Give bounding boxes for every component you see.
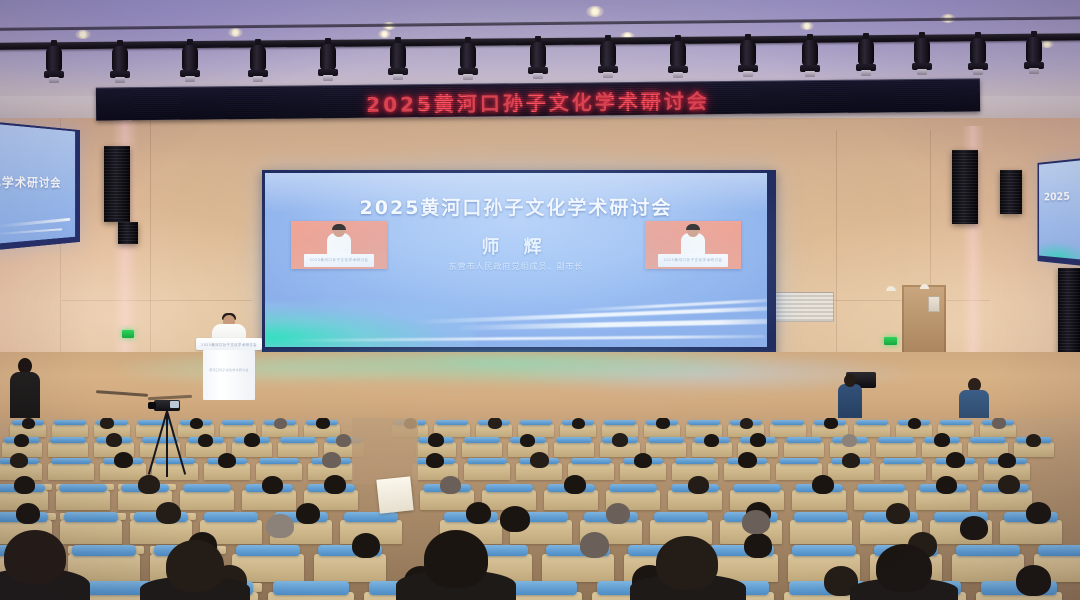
stage-light [1024, 31, 1044, 75]
attendee-head [742, 510, 770, 534]
stage-light [598, 35, 618, 79]
wall-sconce [920, 284, 929, 289]
side-screen-left-text: 文化学术研讨会 [0, 173, 75, 192]
stage-light [248, 39, 268, 83]
wall-vent [774, 292, 834, 322]
stage-light [856, 33, 876, 77]
center-aisle [352, 418, 418, 484]
stage-light [912, 32, 932, 76]
stage-light [528, 36, 548, 80]
exit-sign-left [122, 330, 134, 338]
auditorium-scene: 2025黄河口孙子文化学术研讨会 文化学术研讨会 2025 2025黄河口孙子文… [0, 0, 1080, 600]
screen-pip-right: 2025黄河口孙子文化学术研讨会 [645, 221, 741, 269]
wall-sconce [886, 286, 896, 291]
attendee-foreground-head [876, 544, 932, 592]
ceiling-downlight [586, 6, 604, 17]
line-array-speaker-right-lower [1000, 170, 1022, 214]
attendee-head [266, 514, 294, 538]
pip-left-caption: 2025黄河口孙子文化学术研讨会 [304, 258, 373, 263]
stage-light [458, 37, 478, 81]
ceiling-downlight [800, 22, 814, 30]
attendee-foreground-head [656, 536, 718, 590]
ceiling-downlight [228, 28, 243, 37]
stage-light [110, 40, 130, 84]
floor-speaker-right [1058, 268, 1080, 364]
screen-pip-left: 2025黄河口孙子文化学术研讨会 [291, 221, 387, 269]
attendee-foreground-head [4, 530, 66, 584]
line-array-speaker-left-lower [118, 222, 138, 244]
side-screen-left: 文化学术研讨会 [0, 121, 80, 250]
podium-front-text: 黄河口孙子文化学术研讨会 [207, 368, 251, 372]
podium: 2025黄河口孙子文化学术研讨会 黄河口孙子文化学术研讨会 [196, 338, 262, 400]
stage-light [800, 34, 820, 78]
attendee-foreground-head [424, 530, 488, 588]
ceiling-downlight [75, 30, 91, 39]
stage-light [738, 34, 758, 78]
held-document [376, 476, 413, 513]
attendee-head [960, 516, 988, 540]
main-led-screen: 2025黄河口孙子文化学术研讨会 师 辉 东营市人民政府党组成员、副市长 202… [262, 170, 776, 356]
pip-right-caption: 2025黄河口孙子文化学术研讨会 [658, 258, 727, 263]
side-screen-right-text: 2025 [1044, 190, 1070, 204]
wall-panel [928, 296, 940, 312]
screen-ribbon-graphic [265, 285, 767, 347]
video-camera-tripod [150, 400, 184, 480]
stage-light [318, 38, 338, 82]
stage-light [968, 32, 988, 76]
screen-title: 2025黄河口孙子文化学术研讨会 [265, 193, 767, 220]
stage-light [668, 35, 688, 79]
stage-light [180, 39, 200, 83]
stage-light [44, 40, 64, 84]
side-screen-right: 2025 [1038, 157, 1080, 268]
podium-top-text: 2025黄河口孙子文化学术研讨会 [201, 342, 257, 347]
exit-sign-right [884, 337, 897, 345]
attendee-foreground-head [166, 540, 224, 592]
stage-light [388, 37, 408, 81]
line-array-speaker-left [104, 146, 130, 222]
attendee-head [500, 506, 530, 532]
line-array-speaker-right [952, 150, 978, 224]
